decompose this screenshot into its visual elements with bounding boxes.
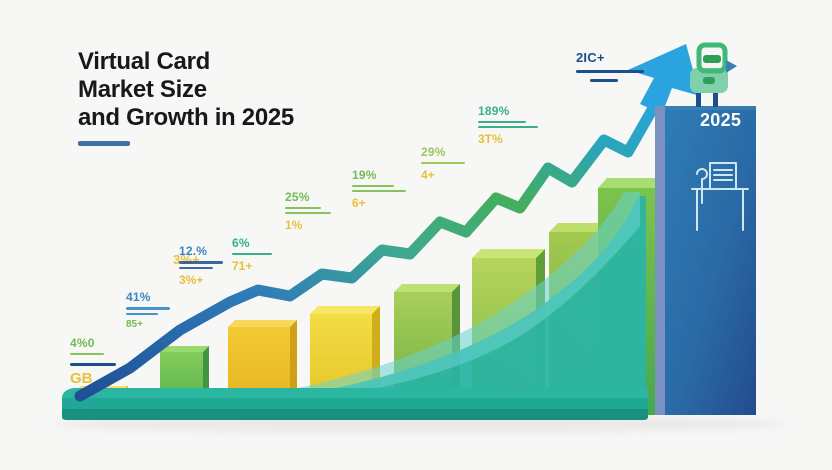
- page-title: Virtual Card Market Size and Growth in 2…: [78, 48, 378, 146]
- annotation-a5-value: 6%: [232, 236, 272, 250]
- pos-terminal-icon: [690, 45, 737, 107]
- annotation-a7-rule-1: [352, 185, 394, 187]
- bar-label-2025: 2025: [700, 110, 741, 131]
- annotation-a8-sub: 4+: [421, 168, 465, 182]
- annotation-a4: 12.% 3%+: [179, 244, 223, 287]
- annotation-a2-rule-1: [126, 307, 170, 310]
- annotation-a6: 25% 1%: [285, 190, 331, 232]
- annotation-a9-value: 189%: [478, 104, 538, 118]
- annotation-a10-rule-1: [576, 70, 644, 73]
- annotation-a2: 41% 85+: [126, 290, 170, 330]
- annotation-a1-rule-1: [70, 353, 104, 355]
- annotation-a8: 29% 4+: [421, 145, 465, 182]
- title-line-3: and Growth in 2025: [78, 104, 378, 132]
- annotation-a10-value: 2IC+: [576, 50, 644, 65]
- annotation-a4-sub: 3%+: [179, 273, 223, 287]
- annotation-a1-sub: GB: [70, 370, 116, 387]
- annotation-a2-sub: 85+: [126, 319, 170, 330]
- annotation-a5: 6% 71+: [232, 236, 272, 273]
- annotation-a9-rule-2: [478, 126, 538, 128]
- annotation-a2-value: 41%: [126, 290, 170, 304]
- annotation-a1-value: 4%0: [70, 336, 116, 350]
- annotation-a7: 19% 6+: [352, 168, 406, 210]
- annotation-a9-sub: 3T%: [478, 132, 538, 146]
- annotation-a5-rule-1: [232, 253, 272, 255]
- title-line-2: Market Size: [78, 76, 378, 104]
- annotation-a1: 4%0 GB: [70, 336, 116, 387]
- annotation-a7-sub: 6+: [352, 196, 406, 210]
- annotation-a4-rule-2: [179, 267, 213, 269]
- annotation-a9: 189% 3T%: [478, 104, 538, 146]
- annotation-a10: 2IC+: [576, 50, 644, 82]
- annotation-a9-rule-1: [478, 121, 526, 123]
- ground-slab: [62, 388, 648, 420]
- annotation-a6-sub: 1%: [285, 218, 331, 232]
- annotation-a8-rule-1: [421, 162, 465, 164]
- annotation-a7-rule-2: [352, 190, 406, 192]
- annotation-a5-sub: 71+: [232, 259, 272, 273]
- annotation-a2-rule-2: [126, 313, 158, 315]
- title-line-1: Virtual Card: [78, 48, 378, 76]
- annotation-a1-rule-2: [70, 363, 116, 366]
- annotation-a6-rule-2: [285, 212, 331, 214]
- infographic-canvas: Virtual Card Market Size and Growth in 2…: [0, 0, 832, 470]
- annotation-a10-rule-2: [590, 79, 618, 82]
- bar-2025: [655, 106, 756, 415]
- annotation-a7-value: 19%: [352, 168, 406, 182]
- title-accent-rule: [78, 141, 130, 146]
- annotation-a4-value: 12.%: [179, 244, 223, 258]
- annotation-a6-rule-1: [285, 207, 321, 209]
- annotation-a8-value: 29%: [421, 145, 465, 159]
- annotation-a6-value: 25%: [285, 190, 331, 204]
- annotation-a4-rule-1: [179, 261, 223, 264]
